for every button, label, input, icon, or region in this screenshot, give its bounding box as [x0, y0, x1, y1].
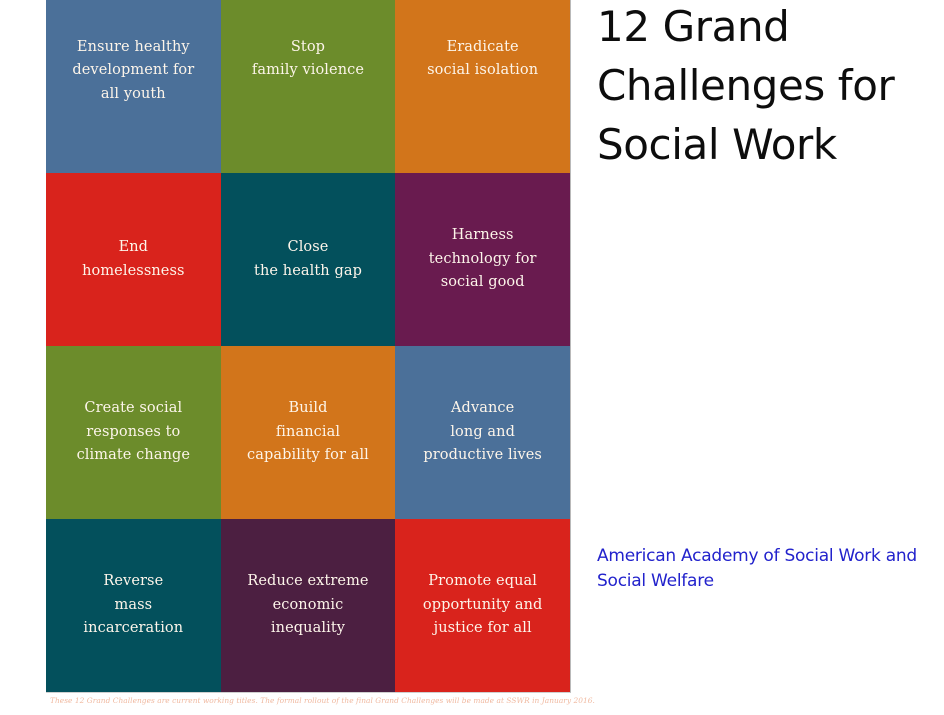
challenge-tile-label: Harness technology for social good [429, 224, 537, 294]
challenge-tile-label: Advance long and productive lives [423, 397, 542, 467]
challenge-tile-label: Eradicate social isolation [427, 36, 538, 83]
right-panel: 12 Grand Challenges for Social Work Amer… [597, 0, 944, 715]
challenge-tile[interactable]: Ensure healthy development for all youth [46, 0, 221, 173]
challenge-tile[interactable]: Create social responses to climate chang… [46, 346, 221, 519]
challenge-tile-label: Ensure healthy development for all youth [72, 36, 194, 106]
challenge-tile-label: Stop family violence [252, 36, 364, 83]
organization-name: American Academy of Social Work and Soci… [597, 544, 944, 594]
challenge-tile[interactable]: Promote equal opportunity and justice fo… [395, 519, 570, 692]
challenge-tile-label: Promote equal opportunity and justice fo… [423, 570, 543, 640]
challenge-tile-label: Build financial capability for all [247, 397, 369, 467]
challenge-tile[interactable]: Harness technology for social good [395, 173, 570, 346]
page-title: 12 Grand Challenges for Social Work [597, 0, 944, 174]
challenge-tile[interactable]: Eradicate social isolation [395, 0, 570, 173]
challenge-tile[interactable]: Stop family violence [221, 0, 396, 173]
challenge-tile[interactable]: End homelessness [46, 173, 221, 346]
challenge-tile-label: End homelessness [82, 236, 185, 283]
challenge-grid: Ensure healthy development for all youth… [46, 0, 571, 693]
challenge-tile-label: Create social responses to climate chang… [77, 397, 191, 467]
challenge-tile[interactable]: Close the health gap [221, 173, 396, 346]
challenge-tile-label: Reduce extreme economic inequality [247, 570, 368, 640]
challenge-tile-label: Reverse mass incarceration [83, 570, 183, 640]
challenge-tile[interactable]: Reduce extreme economic inequality [221, 519, 396, 692]
challenge-tile[interactable]: Advance long and productive lives [395, 346, 570, 519]
challenge-tile[interactable]: Build financial capability for all [221, 346, 396, 519]
challenge-tile[interactable]: Reverse mass incarceration [46, 519, 221, 692]
disclaimer-footnote: These 12 Grand Challenges are current wo… [50, 697, 574, 706]
challenge-tile-label: Close the health gap [254, 236, 362, 283]
